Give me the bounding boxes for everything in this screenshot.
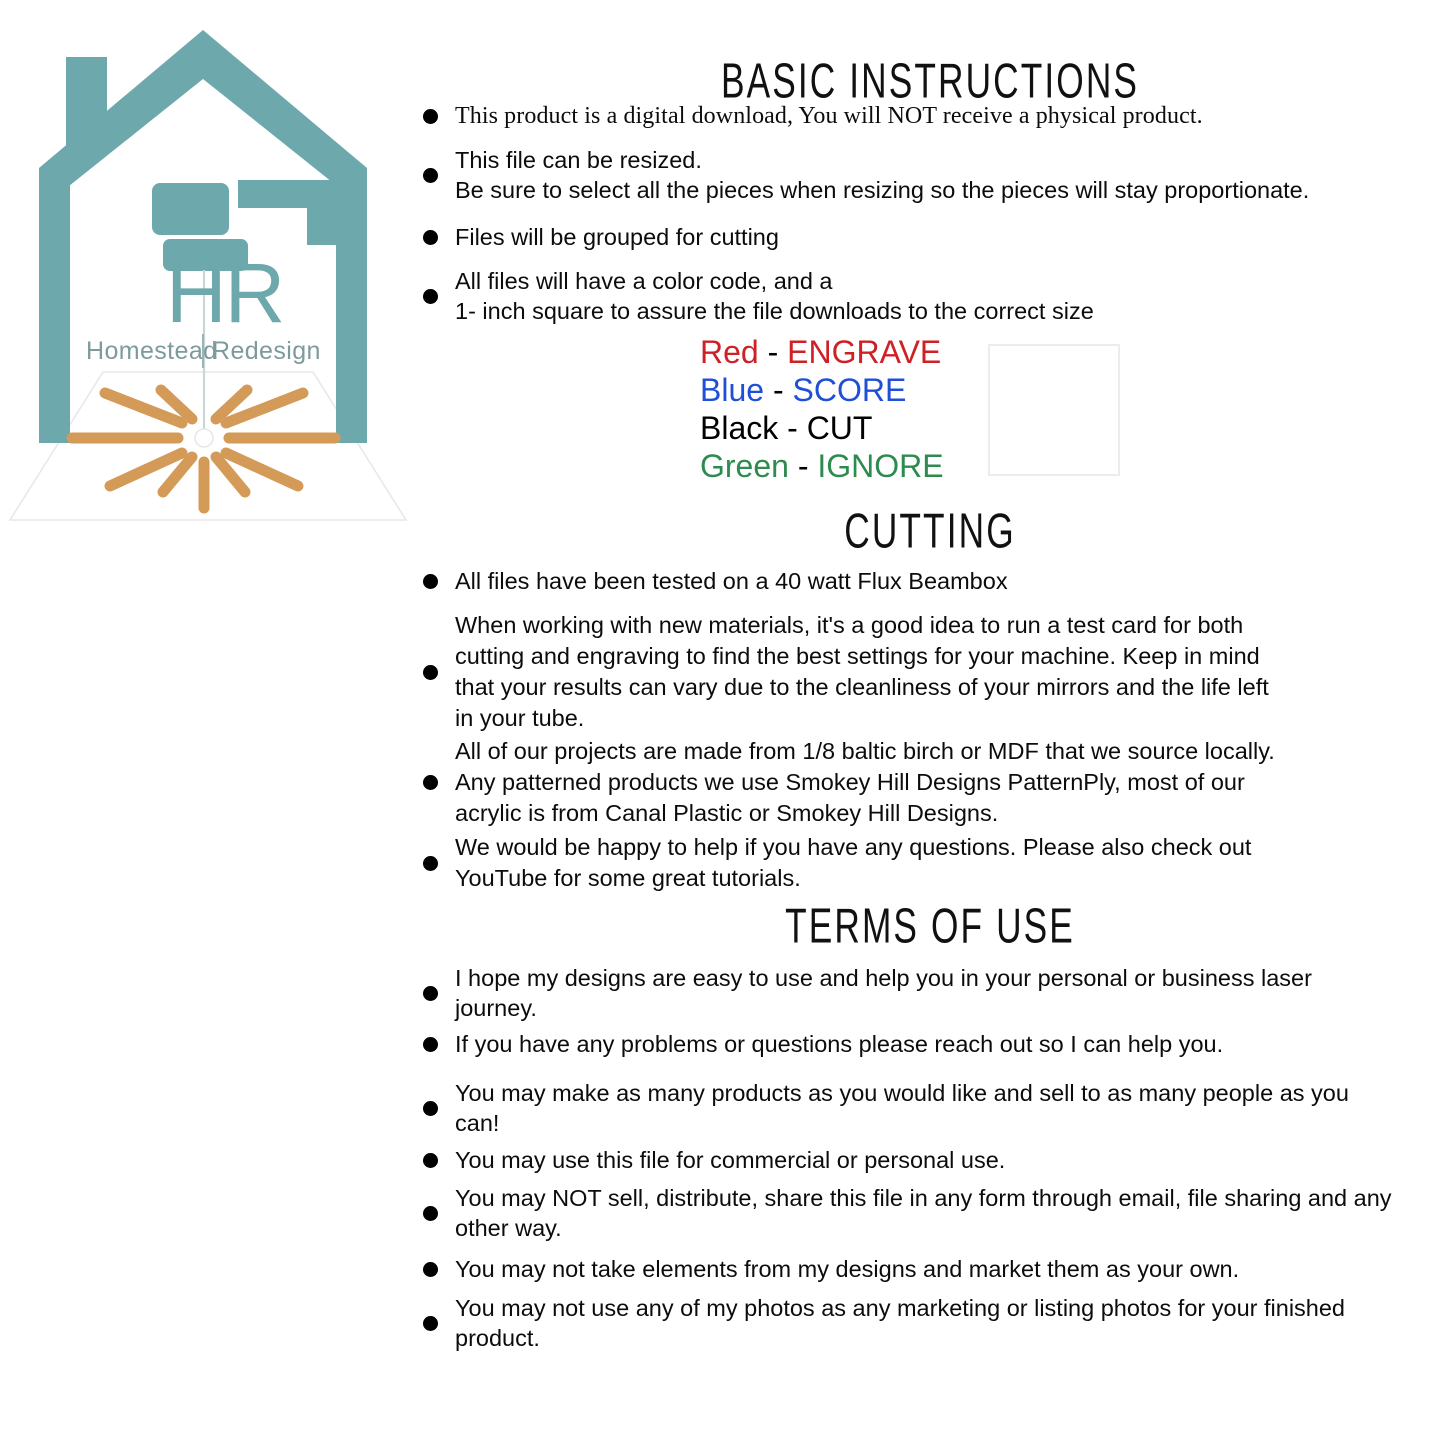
bullet-text: You may not take elements from my design… [455, 1254, 1433, 1284]
bullet-dot-icon [423, 856, 438, 871]
color-code-row-red: Red - ENGRAVE [700, 333, 944, 371]
bullet-item: I hope my designs are easy to use and he… [423, 963, 1433, 1023]
instructions-content: BASIC INSTRUCTIONS This product is a dig… [415, 0, 1445, 1445]
bullet-text: cutting and engraving to find the best s… [455, 641, 1269, 672]
bullet-dot-icon [423, 289, 438, 304]
bullet-dot-icon [423, 574, 438, 589]
bullet-item: You may use this file for commercial or … [423, 1145, 1433, 1175]
bullet-text: Be sure to select all the pieces when re… [455, 175, 1309, 205]
bullet-text: Any patterned products we use Smokey Hil… [455, 767, 1275, 798]
color-code-action: CUT [807, 410, 873, 446]
section-title-terms-of-use: TERMS OF USE [497, 901, 1362, 951]
bullet-text-group: You may make as many products as you wou… [455, 1078, 1349, 1138]
color-code-dash: - [787, 410, 798, 446]
bullet-text: YouTube for some great tutorials. [455, 863, 1251, 894]
bullet-dot-icon [423, 1037, 438, 1052]
bullet-item: All of our projects are made from 1/8 ba… [423, 736, 1433, 829]
bullet-text: product. [455, 1323, 1345, 1353]
bullet-text-group: All of our projects are made from 1/8 ba… [455, 736, 1275, 829]
bullet-text: When working with new materials, it's a … [455, 610, 1269, 641]
color-code-row-black: Black - CUT [700, 409, 944, 447]
bullet-text: You may not use any of my photos as any … [455, 1293, 1345, 1323]
bullet-text: If you have any problems or questions pl… [455, 1029, 1433, 1059]
bullet-text-group: I hope my designs are easy to use and he… [455, 963, 1312, 1023]
bullet-dot-icon [423, 1153, 438, 1168]
brand-logo: HR Homestead Redesign [0, 0, 420, 545]
bullet-dot-icon [423, 1262, 438, 1277]
bullet-text-group: You may not use any of my photos as any … [455, 1293, 1345, 1353]
bullet-item: You may not take elements from my design… [423, 1254, 1433, 1284]
bullet-text: This product is a digital download, You … [455, 101, 1433, 131]
bullet-item: All files will have a color code, and a … [423, 266, 1433, 326]
bullet-text: in your tube. [455, 703, 1269, 734]
wordmark-homestead: Homestead [86, 337, 217, 365]
bullet-item: We would be happy to help if you have an… [423, 832, 1433, 894]
bullet-text-group: This file can be resized. Be sure to sel… [455, 145, 1309, 205]
bullet-dot-icon [423, 1206, 438, 1221]
color-code-color-word: Black [700, 410, 778, 446]
monogram-hr: HR [166, 246, 283, 340]
color-code-color-word: Blue [700, 372, 764, 408]
bullet-text: You may use this file for commercial or … [455, 1145, 1433, 1175]
bullet-text: 1- inch square to assure the file downlo… [455, 296, 1094, 326]
color-code-dash: - [798, 448, 809, 484]
bullet-text: that your results can vary due to the cl… [455, 672, 1269, 703]
bullet-text: We would be happy to help if you have an… [455, 832, 1251, 863]
bullet-text: All files will have a color code, and a [455, 266, 1094, 296]
bullet-text: I hope my designs are easy to use and he… [455, 963, 1312, 993]
color-code-action: IGNORE [817, 448, 943, 484]
wall-left [39, 168, 70, 443]
bullet-text-group: All files will have a color code, and a … [455, 266, 1094, 326]
gantry-rail [238, 180, 336, 245]
bullet-text: You may make as many products as you wou… [455, 1078, 1349, 1108]
bullet-dot-icon [423, 109, 438, 124]
color-code-dash: - [768, 334, 779, 370]
bullet-dot-icon [423, 168, 438, 183]
bullet-text: journey. [455, 993, 1312, 1023]
wordmark-redesign: Redesign [212, 337, 321, 365]
color-code-row-green: Green - IGNORE [700, 447, 944, 485]
bullet-text: All of our projects are made from 1/8 ba… [455, 736, 1275, 767]
bullet-item: You may NOT sell, distribute, share this… [423, 1183, 1433, 1243]
bullet-dot-icon [423, 1316, 438, 1331]
color-code-action: SCORE [792, 372, 906, 408]
bullet-text-group: You may NOT sell, distribute, share this… [455, 1183, 1392, 1243]
section-title-basic-instructions: BASIC INSTRUCTIONS [497, 56, 1362, 106]
color-code-dash: - [773, 372, 784, 408]
laser-focal-point [195, 429, 213, 447]
bullet-text: other way. [455, 1213, 1392, 1243]
bullet-item: This product is a digital download, You … [423, 101, 1433, 131]
bullet-text: can! [455, 1108, 1349, 1138]
color-code-color-word: Green [700, 448, 789, 484]
roof-shape [203, 30, 389, 180]
bullet-dot-icon [423, 665, 438, 680]
color-code-row-blue: Blue - SCORE [700, 371, 944, 409]
color-code-action: ENGRAVE [787, 334, 941, 370]
one-inch-reference-square [988, 344, 1120, 476]
bullet-item: All files have been tested on a 40 watt … [423, 566, 1433, 596]
bullet-dot-icon [423, 775, 438, 790]
bullet-text: You may NOT sell, distribute, share this… [455, 1183, 1392, 1213]
bullet-text: This file can be resized. [455, 145, 1309, 175]
bullet-text-group: We would be happy to help if you have an… [455, 832, 1251, 894]
laser-head-block-upper [152, 183, 229, 235]
bullet-item: When working with new materials, it's a … [423, 610, 1433, 734]
bullet-dot-icon [423, 1101, 438, 1116]
section-title-cutting: CUTTING [497, 506, 1362, 556]
color-code-legend: Red - ENGRAVE Blue - SCORE Black - CUT G… [700, 333, 944, 485]
bullet-text: acrylic is from Canal Plastic or Smokey … [455, 798, 1275, 829]
wall-right [336, 168, 367, 443]
bullet-dot-icon [423, 986, 438, 1001]
bullet-item: You may not use any of my photos as any … [423, 1293, 1433, 1353]
bullet-text: Files will be grouped for cutting [455, 222, 1433, 252]
bullet-dot-icon [423, 230, 438, 245]
bullet-text-group: When working with new materials, it's a … [455, 610, 1269, 734]
bullet-item: If you have any problems or questions pl… [423, 1029, 1433, 1059]
bullet-item: This file can be resized. Be sure to sel… [423, 145, 1433, 205]
bullet-item: You may make as many products as you wou… [423, 1078, 1433, 1138]
bullet-text: All files have been tested on a 40 watt … [455, 566, 1433, 596]
bullet-item: Files will be grouped for cutting [423, 222, 1433, 252]
color-code-color-word: Red [700, 334, 759, 370]
